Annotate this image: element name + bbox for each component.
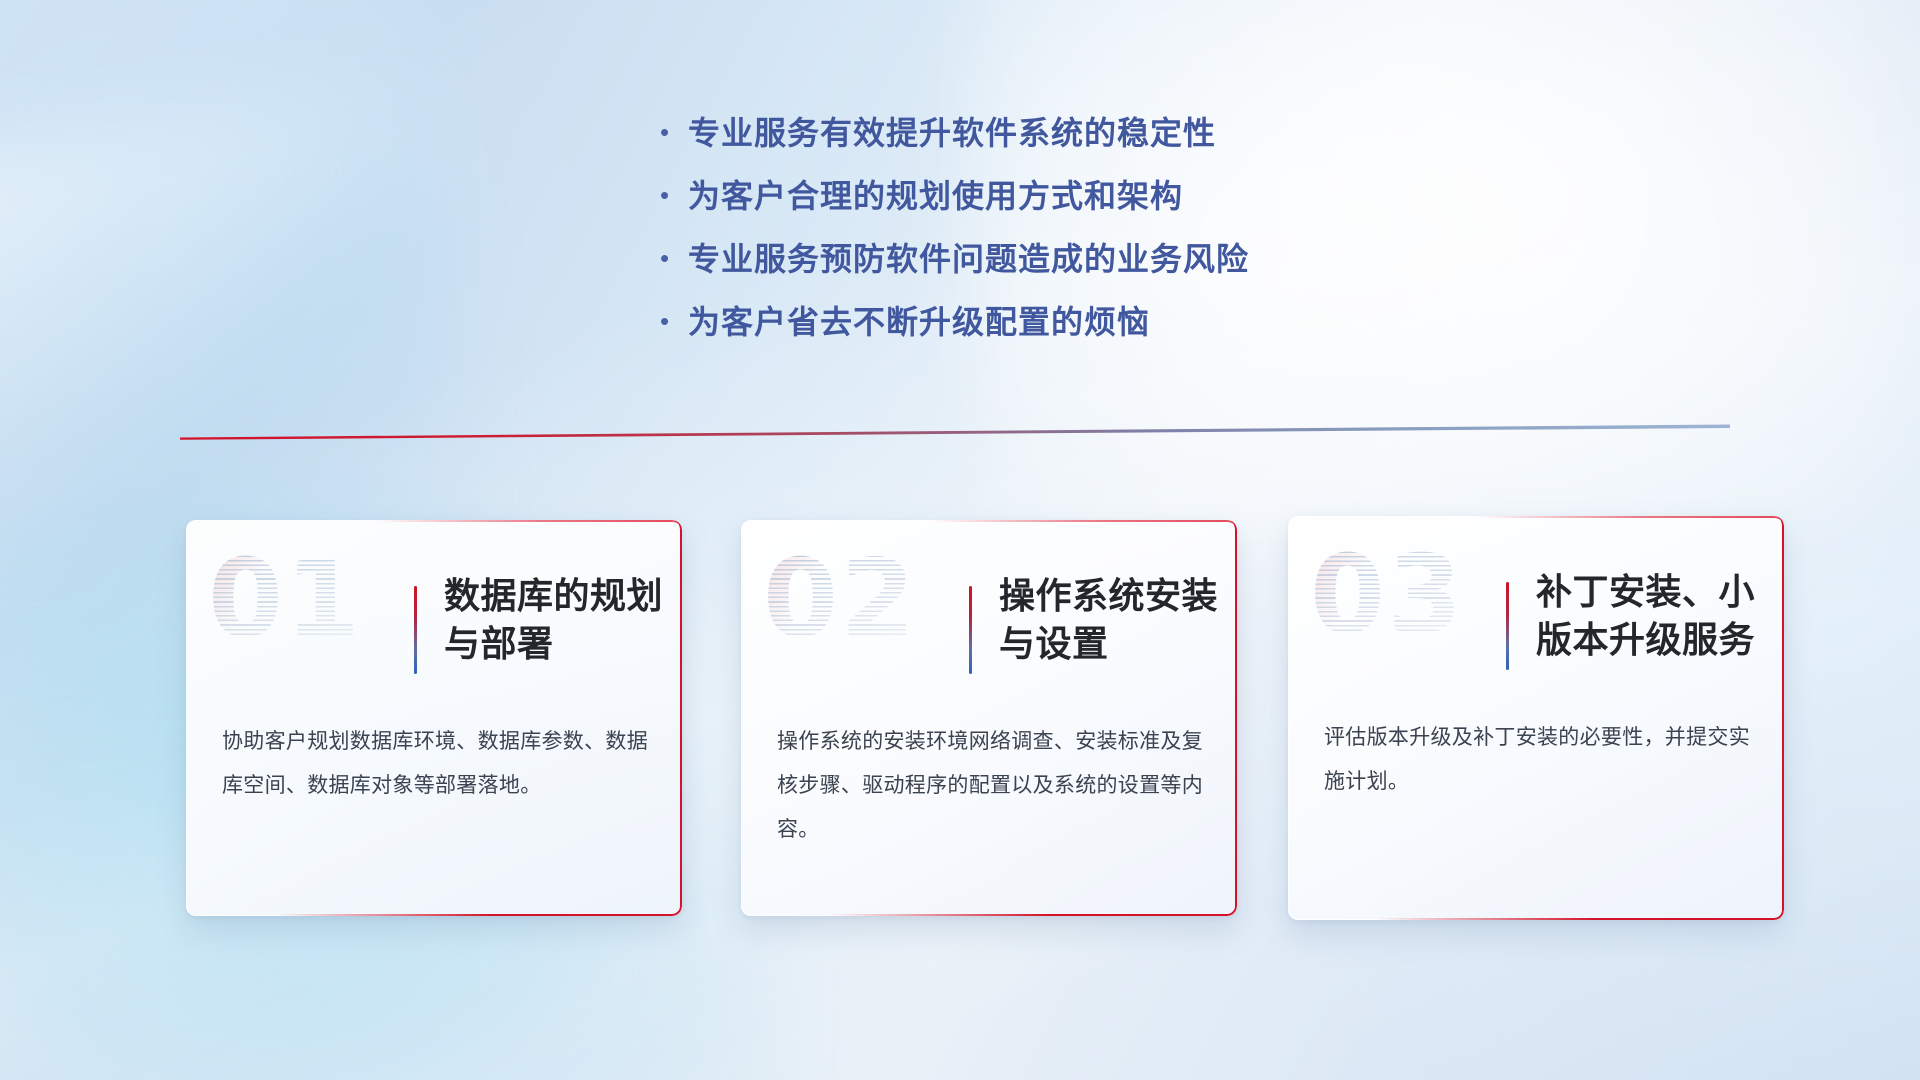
card-body-text: 协助客户规划数据库环境、数据库参数、数据库空间、数据库对象等部署落地。 xyxy=(222,720,654,808)
card-number-watermark: 01 xyxy=(208,546,362,654)
title-accent-rule xyxy=(1506,582,1509,670)
title-accent-rule xyxy=(969,586,972,674)
service-card-list: 01 数据库的规划与部署 协助客户规划数据库环境、数据库参数、数据库空间、数据库… xyxy=(0,0,1920,1080)
slide-canvas: • 专业服务有效提升软件系统的稳定性 • 为客户合理的规划使用方式和架构 • 专… xyxy=(0,0,1920,1080)
card-number-watermark: 03 xyxy=(1310,542,1464,650)
card-body-text: 评估版本升级及补丁安装的必要性，并提交实施计划。 xyxy=(1324,716,1756,804)
service-card-01[interactable]: 01 数据库的规划与部署 协助客户规划数据库环境、数据库参数、数据库空间、数据库… xyxy=(186,520,682,916)
title-accent-rule xyxy=(414,586,417,674)
card-body-text: 操作系统的安装环境网络调查、安装标准及复核步骤、驱动程序的配置以及系统的设置等内… xyxy=(777,720,1209,852)
card-title: 操作系统安装与设置 xyxy=(999,572,1229,668)
card-title: 数据库的规划与部署 xyxy=(444,572,664,668)
service-card-02[interactable]: 02 操作系统安装与设置 操作系统的安装环境网络调查、安装标准及复核步骤、驱动程… xyxy=(741,520,1237,916)
card-number-watermark: 02 xyxy=(763,546,917,654)
card-title: 补丁安装、小版本升级服务 xyxy=(1536,568,1776,664)
service-card-03[interactable]: 03 补丁安装、小版本升级服务 评估版本升级及补丁安装的必要性，并提交实施计划。 xyxy=(1288,516,1784,920)
